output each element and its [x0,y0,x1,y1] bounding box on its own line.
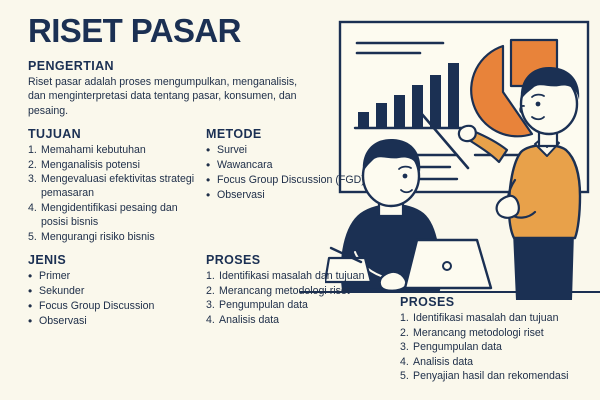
bar-4 [412,85,423,128]
list-item: 5.Penyajian hasil dan rekomendasi [400,369,600,383]
list-text: Analisis data [219,313,402,327]
list-item: 3.Mengevaluasi efektivitas strategi pema… [28,172,206,200]
list-item: 1.Identifikasi masalah dan tujuan [400,311,600,325]
column-proses-lengkap: PROSES 1.Identifikasi masalah dan tujuan… [400,295,600,384]
proses-list: 1.Identifikasi masalah dan tujuan 2.Mera… [206,269,402,327]
presenter-hand-pointing [497,196,519,218]
list-number: 4. [400,355,413,369]
list-item: 5.Mengurangi risiko bisnis [28,230,206,244]
bullet-dot-icon: • [206,173,217,187]
list-text: Focus Group Discussion (FGD) [217,173,402,187]
list-item: 1.Memahami kebutuhan [28,143,206,157]
laptop-screen [405,240,491,288]
band-jenis-proses: JENIS •Primer •Sekunder •Focus Group Dis… [28,253,408,329]
pengertian-body: Riset pasar adalah proses mengumpulkan, … [28,75,310,118]
list-number: 4. [28,201,41,229]
section-heading-tujuan: TUJUAN [28,127,206,141]
list-number: 3. [28,172,41,200]
column-proses: PROSES 1.Identifikasi masalah dan tujuan… [206,253,402,329]
list-item: 3.Pengumpulan data [400,340,600,354]
bullet-dot-icon: • [28,284,39,298]
section-heading-jenis: JENIS [28,253,206,267]
list-text: Identifikasi masalah dan tujuan [219,269,402,283]
list-number: 3. [400,340,413,354]
list-item: 4.Analisis data [400,355,600,369]
list-number: 1. [28,143,41,157]
list-text: Mengevaluasi efektivitas strategi pemasa… [41,172,206,200]
band-tujuan-metode: TUJUAN 1.Memahami kebutuhan 2.Menganalis… [28,127,408,244]
list-text: Focus Group Discussion [39,299,206,313]
page-title: RISET PASAR [28,14,408,47]
metode-list: •Survei •Wawancara •Focus Group Discussi… [206,143,402,202]
list-number: 4. [206,313,219,327]
list-item: 2.Merancang metodologi riset [206,284,402,298]
list-text: Pengumpulan data [219,298,402,312]
column-metode: METODE •Survei •Wawancara •Focus Group D… [206,127,402,244]
section-heading-metode: METODE [206,127,402,141]
list-item: 1.Identifikasi masalah dan tujuan [206,269,402,283]
list-text: Observasi [39,314,206,328]
list-number: 1. [400,311,413,325]
list-text: Analisis data [413,355,600,369]
list-text: Mengidentifikasi pesaing dan posisi bisn… [41,201,206,229]
list-text: Identifikasi masalah dan tujuan [413,311,600,325]
text-content-panel: RISET PASAR PENGERTIAN Riset pasar adala… [0,0,408,400]
tujuan-list: 1.Memahami kebutuhan 2.Menganalisis pote… [28,143,206,244]
list-item: 4.Analisis data [206,313,402,327]
list-text: Sekunder [39,284,206,298]
section-heading-pengertian: PENGERTIAN [28,59,408,73]
presenter-hand-raised [459,126,476,141]
proses-lengkap-list: 1.Identifikasi masalah dan tujuan 2.Mera… [400,311,600,383]
list-item: 4.Mengidentifikasi pesaing dan posisi bi… [28,201,206,229]
presenter-legs [514,232,573,300]
section-heading-proses: PROSES [206,253,402,267]
bullet-dot-icon: • [206,143,217,157]
infographic-poster: RISET PASAR PENGERTIAN Riset pasar adala… [0,0,600,400]
presenter-torso [509,145,580,238]
list-text: Observasi [217,188,402,202]
list-number: 3. [206,298,219,312]
column-tujuan: TUJUAN 1.Memahami kebutuhan 2.Menganalis… [28,127,206,244]
laptop [405,240,491,288]
column-jenis: JENIS •Primer •Sekunder •Focus Group Dis… [28,253,206,329]
list-item: •Primer [28,269,206,283]
list-item: 2.Menganalisis potensi [28,158,206,172]
list-number: 2. [206,284,219,298]
list-item: •Observasi [206,188,402,202]
presenter-eye [536,102,541,107]
list-item: 2.Merancang metodologi riset [400,326,600,340]
list-number: 2. [400,326,413,340]
list-item: 3.Pengumpulan data [206,298,402,312]
section-heading-proses-lengkap: PROSES [400,295,600,309]
bar-6 [448,63,459,128]
list-text: Pengumpulan data [413,340,600,354]
list-number: 2. [28,158,41,172]
list-text: Menganalisis potensi [41,158,206,172]
jenis-list: •Primer •Sekunder •Focus Group Discussio… [28,269,206,328]
list-text: Penyajian hasil dan rekomendasi [413,369,600,383]
bullet-dot-icon: • [28,269,39,283]
list-item: •Survei [206,143,402,157]
list-item: •Focus Group Discussion (FGD) [206,173,402,187]
bullet-dot-icon: • [206,188,217,202]
list-number: 5. [400,369,413,383]
list-text: Survei [217,143,402,157]
bullet-dot-icon: • [206,158,217,172]
list-text: Merancang metodologi riset [219,284,402,298]
bullet-dot-icon: • [28,299,39,313]
bar-5 [430,75,441,128]
list-text: Memahami kebutuhan [41,143,206,157]
list-item: •Observasi [28,314,206,328]
list-number: 5. [28,230,41,244]
list-text: Wawancara [217,158,402,172]
list-item: •Focus Group Discussion [28,299,206,313]
list-number: 1. [206,269,219,283]
list-text: Merancang metodologi riset [413,326,600,340]
list-item: •Sekunder [28,284,206,298]
list-text: Primer [39,269,206,283]
list-item: •Wawancara [206,158,402,172]
list-text: Mengurangi risiko bisnis [41,230,206,244]
bullet-dot-icon: • [28,314,39,328]
